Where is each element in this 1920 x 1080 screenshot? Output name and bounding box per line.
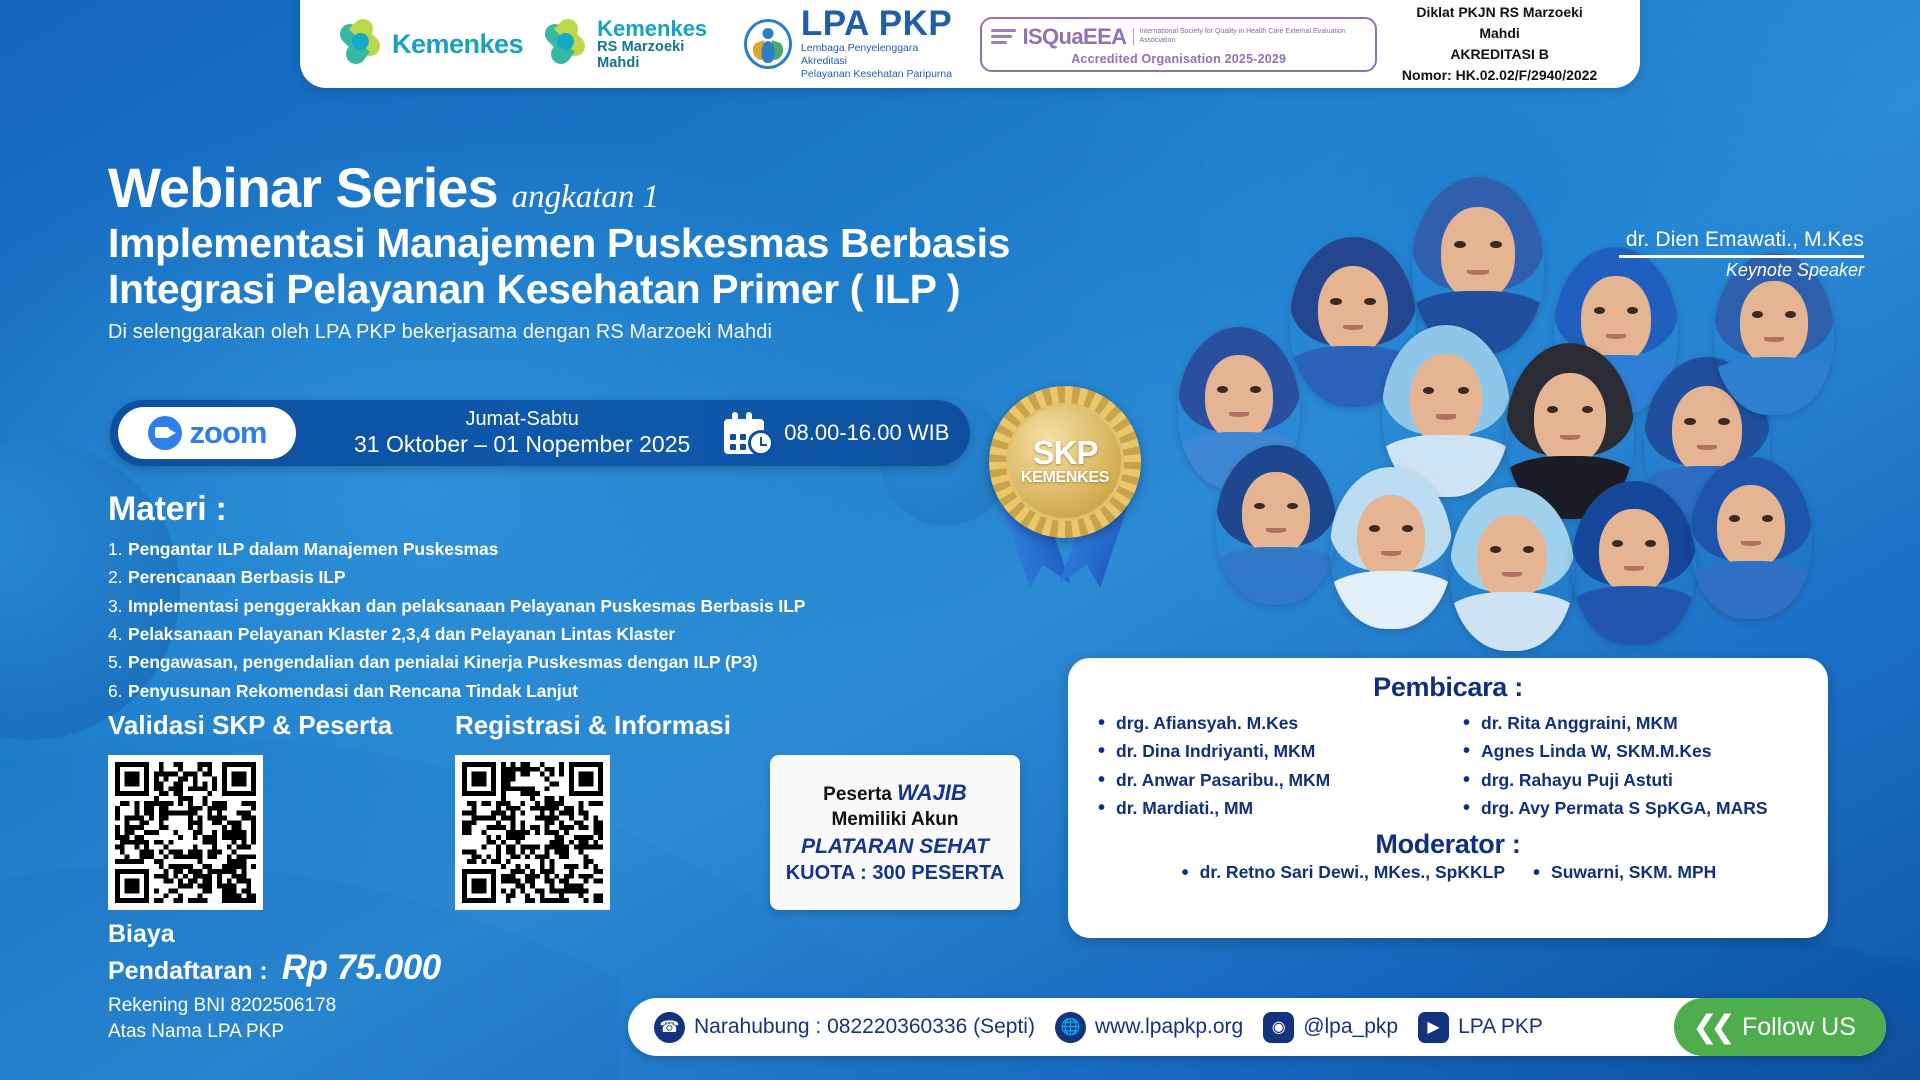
speakers-panel: Pembicara : drg. Afiansyah. M.Kes dr. Di…: [1068, 658, 1828, 938]
isqua-label: ISQuaEEA: [1022, 26, 1126, 48]
contact-footer-bar: ☎ Narahubung : 082220360336 (Septi) 🌐 ww…: [628, 998, 1886, 1056]
contact-website-text: www.lpapkp.org: [1095, 1015, 1243, 1039]
materi-section: Materi : 1.Pengantar ILP dalam Manajemen…: [108, 490, 1038, 705]
double-chevron-left-icon: ❮❮: [1692, 1009, 1728, 1045]
schedule-time: 08.00-16.00 WIB: [784, 420, 949, 446]
materi-item-text: Pengantar ILP dalam Manajemen Puskesmas: [128, 539, 498, 559]
skp-kemenkes-badge: SKP KEMENKES: [975, 382, 1155, 597]
validasi-skp-label: Validasi SKP & Peserta: [108, 710, 392, 741]
avatar: [1572, 481, 1696, 645]
kemenkes-rsmm-title: Kemenkes: [597, 16, 707, 41]
lpa-pkp-label: LPA PKP: [801, 7, 958, 40]
kemenkes-rsmm-logo-icon: [545, 22, 589, 66]
list-item: drg. Rahayu Puji Astuti: [1459, 766, 1802, 794]
bank-account-number: Rekening BNI 8202506178: [108, 993, 441, 1019]
keynote-speaker-role: Keynote Speaker: [1619, 260, 1864, 281]
fee-label-2: Pendaftaran :: [108, 957, 268, 985]
kemenkes-rsmm-label: Kemenkes RS Marzoeki Mahdi: [597, 17, 722, 71]
list-item: 1.Pengantar ILP dalam Manajemen Puskesma…: [108, 535, 1038, 563]
list-item: drg. Afiansyah. M.Kes: [1094, 709, 1437, 737]
kemenkes-rsmm-subtitle: RS Marzoeki Mahdi: [597, 40, 722, 70]
lpa-pkp-logo-icon: [744, 19, 792, 69]
accreditation-line-1: Diklat PKJN RS Marzoeki Mahdi: [1399, 2, 1600, 44]
contact-youtube-text: LPA PKP: [1458, 1015, 1543, 1039]
notebox-peserta-text: Peserta: [823, 784, 897, 805]
validasi-skp-section: Validasi SKP & Peserta: [108, 710, 392, 910]
moderator-heading: Moderator :: [1094, 829, 1802, 860]
speakers-list-right: dr. Rita Anggraini, MKM Agnes Linda W, S…: [1459, 709, 1802, 822]
contact-phone-text: Narahubung : 082220360336 (Septi): [694, 1015, 1035, 1039]
poster-title-block: Webinar Series angkatan 1 Implementasi M…: [108, 160, 1228, 344]
bank-account-info: Rekening BNI 8202506178 Atas Nama LPA PK…: [108, 993, 441, 1044]
contact-instagram[interactable]: ◉ @lpa_pkp: [1263, 1012, 1398, 1043]
moderator-list: dr. Retno Sari Dewi., MKes., SpKKLP Suwa…: [1094, 862, 1802, 883]
materi-heading: Materi :: [108, 490, 1038, 529]
fee-label-1: Biaya: [108, 920, 441, 948]
lpa-pkp-tagline: Lembaga Penyelenggara Akreditasi Pelayan…: [801, 42, 958, 81]
avatar: [1216, 445, 1336, 605]
accreditation-block: Diklat PKJN RS Marzoeki Mahdi AKREDITASI…: [1399, 2, 1624, 86]
notebox-line-2: Memiliki Akun: [831, 807, 958, 832]
isqua-accredited-text: Accredited Organisation 2025-2029: [1071, 52, 1286, 66]
list-item: dr. Mardiati., MM: [1094, 794, 1437, 822]
calendar-clock-icon: [724, 412, 772, 454]
page-title: Webinar Series angkatan 1: [108, 160, 1228, 216]
contact-youtube[interactable]: ▶ LPA PKP: [1418, 1012, 1543, 1043]
list-item: drg. Avy Permata S SpKGA, MARS: [1459, 794, 1802, 822]
schedule-dates: 31 Oktober – 01 Nopember 2025: [354, 431, 690, 459]
avatar: [1690, 457, 1812, 619]
instagram-icon: ◉: [1263, 1012, 1294, 1043]
isqua-description: International Society for Quality in Hea…: [1133, 28, 1366, 46]
participant-requirement-box: Peserta WAJIB Memiliki Akun PLATARAN SEH…: [770, 755, 1020, 910]
avatar: [1450, 487, 1574, 651]
title-main: Webinar Series: [108, 160, 498, 216]
schedule-bar: zoom Jumat-Sabtu 31 Oktober – 01 Nopembe…: [110, 400, 970, 466]
list-item: 5.Pengawasan, pengendalian dan penialai …: [108, 648, 1038, 676]
list-item: dr. Anwar Pasaribu., MKM: [1094, 766, 1437, 794]
materi-item-text: Perencanaan Berbasis ILP: [128, 567, 345, 587]
list-item: dr. Retno Sari Dewi., MKes., SpKKLP: [1180, 862, 1505, 883]
phone-icon: ☎: [654, 1012, 685, 1043]
bank-account-name: Atas Nama LPA PKP: [108, 1019, 441, 1045]
materi-list: 1.Pengantar ILP dalam Manajemen Puskesma…: [108, 535, 1038, 705]
lpa-pkp-tagline-1: Lembaga Penyelenggara Akreditasi: [801, 42, 958, 68]
list-item: 2.Perencanaan Berbasis ILP: [108, 563, 1038, 591]
logo-lpa-pkp: LPA PKP Lembaga Penyelenggara Akreditasi…: [744, 7, 958, 82]
logo-kemenkes: Kemenkes: [340, 22, 523, 66]
schedule-days: Jumat-Sabtu: [354, 407, 690, 431]
list-item: Suwarni, SKM. MPH: [1531, 862, 1716, 883]
materi-item-text: Penyusunan Rekomendasi dan Rencana Tinda…: [128, 681, 578, 701]
keynote-divider: [1619, 255, 1864, 258]
notebox-line-1: Peserta WAJIB: [823, 778, 967, 807]
list-item: dr. Rita Anggraini, MKM: [1459, 709, 1802, 737]
globe-icon: 🌐: [1055, 1012, 1086, 1043]
contact-phone[interactable]: ☎ Narahubung : 082220360336 (Septi): [654, 1012, 1035, 1043]
isqua-wing-icon: [991, 24, 1015, 50]
contact-instagram-text: @lpa_pkp: [1303, 1015, 1398, 1039]
logo-kemenkes-rsmm: Kemenkes RS Marzoeki Mahdi: [545, 17, 722, 71]
badge-kemenkes-text: KEMENKES: [1021, 469, 1109, 487]
follow-us-label: Follow US: [1742, 1013, 1856, 1042]
zoom-platform-badge: zoom: [118, 407, 296, 459]
list-item: dr. Dina Indriyanti, MKM: [1094, 737, 1437, 765]
schedule-date: Jumat-Sabtu 31 Oktober – 01 Nopember 202…: [354, 407, 690, 459]
speakers-list-left: drg. Afiansyah. M.Kes dr. Dina Indriyant…: [1094, 709, 1437, 822]
notebox-line-3: PLATARAN SEHAT: [801, 833, 989, 861]
accreditation-line-2: AKREDITASI B: [1399, 44, 1600, 65]
accreditation-line-3: Nomor: HK.02.02/F/2940/2022: [1399, 65, 1600, 86]
logo-isqua-eea: ISQuaEEA International Society for Quali…: [980, 17, 1377, 72]
notebox-quota: KUOTA : 300 PESERTA: [786, 860, 1005, 886]
materi-item-text: Pengawasan, pengendalian dan penialai Ki…: [128, 652, 758, 672]
registrasi-informasi-label: Registrasi & Informasi: [455, 710, 731, 741]
lpa-pkp-tagline-2: Pelayanan Kesehatan Paripurna: [801, 68, 958, 81]
list-item: 3.Implementasi penggerakkan dan pelaksan…: [108, 592, 1038, 620]
materi-item-text: Pelaksanaan Pelayanan Klaster 2,3,4 dan …: [128, 624, 675, 644]
title-batch: angkatan 1: [512, 181, 660, 214]
youtube-icon: ▶: [1418, 1012, 1449, 1043]
title-subtitle: Implementasi Manajemen Puskesmas Berbasi…: [108, 221, 1228, 313]
title-subtitle-line-2: Integrasi Pelayanan Kesehatan Primer ( I…: [108, 267, 1228, 313]
list-item: 6.Penyusunan Rekomendasi dan Rencana Tin…: [108, 677, 1038, 705]
contact-website[interactable]: 🌐 www.lpapkp.org: [1055, 1012, 1243, 1043]
follow-us-button[interactable]: ❮❮ Follow US: [1674, 998, 1886, 1056]
kemenkes-label: Kemenkes: [392, 31, 523, 58]
badge-medal-icon: SKP KEMENKES: [989, 386, 1141, 538]
speakers-heading: Pembicara :: [1094, 672, 1802, 703]
registrasi-informasi-section: Registrasi & Informasi: [455, 710, 731, 910]
list-item: 4.Pelaksanaan Pelayanan Klaster 2,3,4 da…: [108, 620, 1038, 648]
zoom-label: zoom: [190, 415, 267, 451]
list-item: Agnes Linda W, SKM.M.Kes: [1459, 737, 1802, 765]
validasi-skp-qr-code[interactable]: [108, 755, 263, 910]
kemenkes-logo-icon: [340, 22, 384, 66]
materi-item-text: Implementasi penggerakkan dan pelaksanaa…: [128, 596, 805, 616]
header-logo-bar: Kemenkes Kemenkes RS Marzoeki Mahdi LPA …: [300, 0, 1640, 88]
zoom-camera-icon: [148, 416, 182, 450]
registration-fee-section: Biaya Pendaftaran : Rp 75.000 Rekening B…: [108, 920, 441, 1044]
notebox-wajib-text: WAJIB: [897, 780, 967, 805]
badge-skp-text: SKP: [1033, 437, 1098, 468]
avatar: [1330, 467, 1452, 629]
keynote-speaker-block: dr. Dien Emawati., M.Kes Keynote Speaker: [1619, 228, 1864, 281]
registrasi-qr-code[interactable]: [455, 755, 610, 910]
title-subtitle-line-1: Implementasi Manajemen Puskesmas Berbasi…: [108, 221, 1228, 267]
keynote-speaker-name: dr. Dien Emawati., M.Kes: [1619, 228, 1864, 252]
fee-amount: Rp 75.000: [282, 948, 441, 988]
title-organizer: Di selenggarakan oleh LPA PKP bekerjasam…: [108, 321, 1228, 344]
